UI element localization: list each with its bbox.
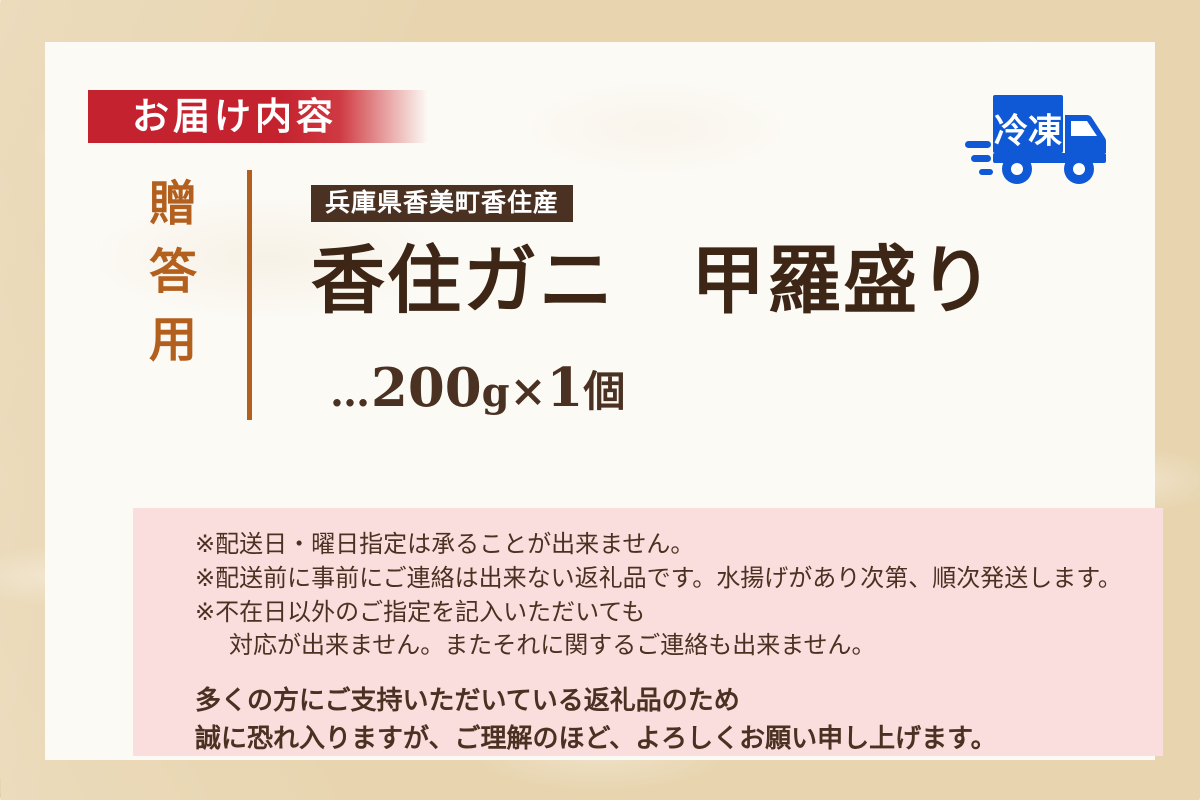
- section-header-label: お届け内容: [132, 98, 337, 135]
- notice-line-4: 対応が出来ません。またそれに関するご連絡も出来ません。: [195, 629, 1163, 663]
- amount-weight: 200: [371, 357, 482, 419]
- notice-line-2: ※配送前に事前にご連絡は出来ない返礼品です。水揚げがあり次第、順次発送します。: [195, 562, 1163, 596]
- gift-use-char-2: 答: [131, 238, 215, 306]
- frozen-label: 冷凍: [994, 112, 1062, 152]
- notice-line-3: ※不在日以外のご指定を記入いただいても: [195, 596, 1163, 630]
- product-amount: …200g×1個: [330, 362, 625, 415]
- product-title: 香住ガニ 甲羅盛り: [311, 244, 995, 318]
- amount-leader: …: [330, 369, 371, 416]
- amount-times-symbol: ×: [510, 366, 547, 417]
- shipping-notice-box: ※配送日・曜日指定は承ることが出来ません。 ※配送前に事前にご連絡は出来ない返礼…: [133, 508, 1163, 756]
- amount-weight-unit: g: [482, 369, 510, 416]
- vertical-divider: [247, 170, 252, 420]
- washi-background: お届け内容: [0, 0, 1200, 800]
- notice-closing-line-2: 誠に恐れ入りますが、ご理解のほど、よろしくお願い申し上げます。: [195, 721, 1163, 759]
- origin-badge: 兵庫県香美町香住産: [311, 185, 573, 222]
- notice-closing: 多くの方にご支持いただいている返礼品のため 誠に恐れ入りますが、ご理解のほど、よ…: [195, 683, 1163, 758]
- section-header-banner: お届け内容: [88, 90, 428, 143]
- amount-quantity: 1: [546, 357, 583, 419]
- frozen-delivery-truck-icon: 冷凍: [965, 85, 1113, 187]
- gift-use-char-1: 贈: [131, 170, 215, 238]
- amount-quantity-unit: 個: [583, 367, 625, 416]
- notice-closing-line-1: 多くの方にご支持いただいている返礼品のため: [195, 683, 1163, 721]
- gift-use-char-3: 用: [131, 306, 215, 374]
- gift-use-label: 贈 答 用: [131, 170, 215, 374]
- content-panel: お届け内容: [45, 42, 1155, 760]
- notice-line-1: ※配送日・曜日指定は承ることが出来ません。: [195, 528, 1163, 562]
